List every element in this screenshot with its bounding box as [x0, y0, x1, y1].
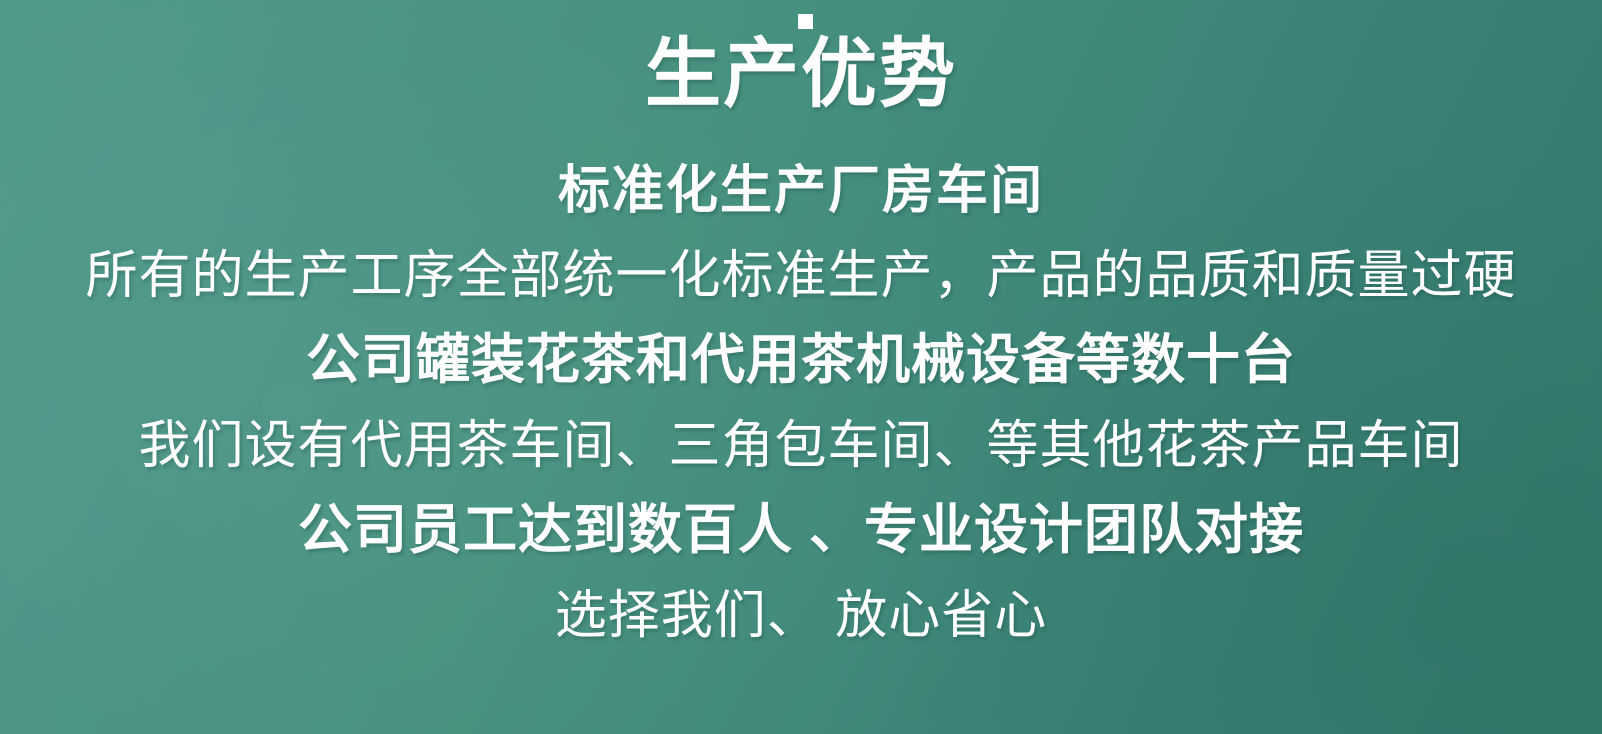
- advantage-line-5: 公司员工达到数百人 、专业设计团队对接: [298, 503, 1304, 557]
- square-marker-icon: [798, 14, 813, 29]
- advantage-line-3: 公司罐装花茶和代用茶机械设备等数十台: [306, 333, 1296, 387]
- page-title: 生产优势: [645, 37, 957, 113]
- advantage-line-4: 我们设有代用茶车间、三角包车间、等其他花茶产品车间: [138, 420, 1463, 472]
- advantage-line-2: 所有的生产工序全部统一化标准生产，产品的品质和质量过硬: [85, 250, 1516, 302]
- advantage-line-6: 选择我们、 放心省心: [555, 590, 1047, 642]
- advantage-line-1: 标准化生产厂房车间: [558, 165, 1044, 217]
- production-advantage-poster: 生产优势 标准化生产厂房车间 所有的生产工序全部统一化标准生产，产品的品质和质量…: [0, 0, 1602, 734]
- poster-content-stack: 生产优势 标准化生产厂房车间 所有的生产工序全部统一化标准生产，产品的品质和质量…: [0, 0, 1602, 734]
